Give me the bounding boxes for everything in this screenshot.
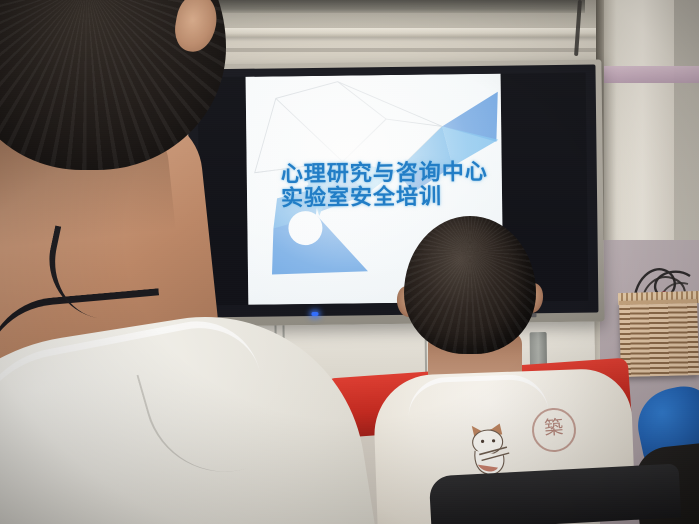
photo-scene: 心理研究与咨询中心 实验室安全培训 築 bbox=[0, 0, 699, 524]
cat-graphic-print bbox=[462, 419, 519, 480]
power-led-indicator bbox=[311, 312, 318, 316]
slide-title: 心理研究与咨询中心 实验室安全培训 bbox=[257, 162, 503, 212]
wall-display[interactable]: 心理研究与咨询中心 实验室安全培训 bbox=[181, 59, 604, 326]
slide-title-line2: 实验室安全培训 bbox=[257, 186, 502, 211]
ceiling-dark-band bbox=[185, 0, 585, 13]
slide-title-line1: 心理研究与咨询中心 bbox=[257, 162, 502, 187]
wooden-shelf bbox=[619, 299, 699, 377]
pillar-stripe bbox=[604, 66, 699, 83]
display-bezel: 心理研究与咨询中心 实验室安全培训 bbox=[187, 65, 598, 318]
wall-pillar bbox=[604, 0, 674, 250]
